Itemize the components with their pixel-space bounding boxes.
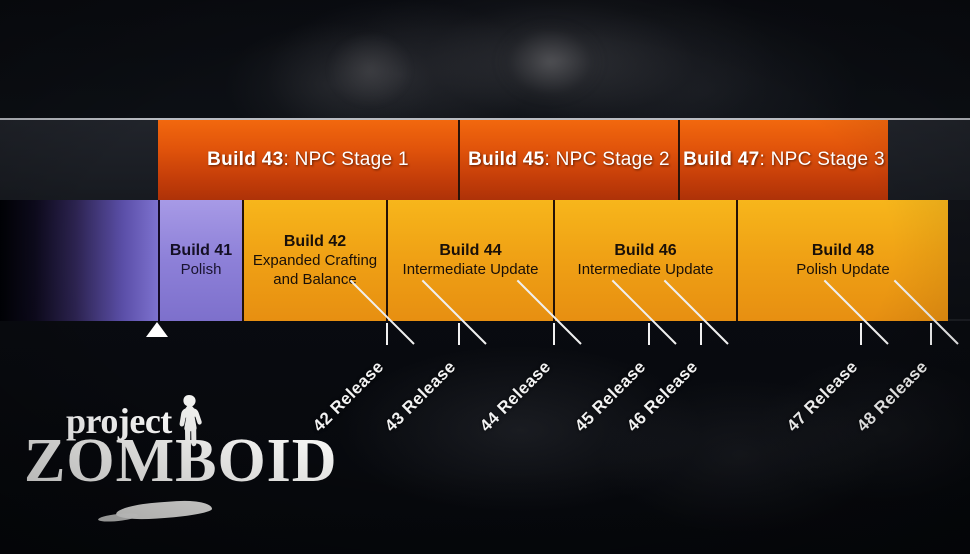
build-title: Build 44	[439, 241, 501, 261]
stage-separator: :	[759, 149, 770, 170]
build-subtitle: Intermediate Update	[578, 261, 714, 280]
build-subtitle: Polish	[181, 261, 222, 280]
stage-build-number: Build 45	[468, 149, 544, 170]
stage-build-number: Build 47	[683, 149, 759, 170]
build-title: Build 42	[284, 232, 346, 252]
stage-label: Build 47: NPC Stage 3	[683, 149, 885, 171]
release-callout-release-48: 48 Release	[930, 323, 932, 345]
release-callout-release-44: 44 Release	[553, 323, 555, 345]
past-progress-fade	[0, 200, 158, 321]
stage-bar-stage-47: Build 47: NPC Stage 3	[678, 120, 888, 200]
stage-bar-stage-43: Build 43: NPC Stage 1	[158, 120, 458, 200]
stage-label: Build 43: NPC Stage 1	[207, 149, 409, 171]
stage-bar-stage-45: Build 45: NPC Stage 2	[458, 120, 678, 200]
build-title: Build 41	[170, 241, 232, 261]
release-callout-release-45: 45 Release	[648, 323, 650, 345]
stage-label: Build 45: NPC Stage 2	[468, 149, 670, 171]
logo-blood-smear-secondary	[98, 512, 139, 523]
background-zombie-figure	[250, 0, 710, 120]
release-callout-release-43: 43 Release	[458, 323, 460, 345]
timeline-chart: Build 43: NPC Stage 1Build 45: NPC Stage…	[0, 118, 970, 321]
roadmap-image: Build 43: NPC Stage 1Build 45: NPC Stage…	[0, 0, 970, 554]
project-zomboid-logo: project ZOMBOID	[24, 398, 264, 528]
build-title: Build 46	[614, 241, 676, 261]
build-title: Build 48	[812, 241, 874, 261]
build-subtitle: Polish Update	[796, 261, 889, 280]
build-block-build-42: Build 42Expanded Crafting and Balance	[242, 200, 386, 321]
build-block-build-46: Build 46Intermediate Update	[553, 200, 736, 321]
logo-word-zomboid: ZOMBOID	[24, 430, 338, 492]
stage-name: NPC Stage 1	[295, 149, 409, 170]
release-callout-release-46: 46 Release	[700, 323, 702, 345]
stage-name: NPC Stage 2	[556, 149, 670, 170]
build-block-build-41: Build 41Polish	[158, 200, 242, 321]
build-subtitle: Expanded Crafting and Balance	[248, 252, 382, 290]
stage-separator: :	[283, 149, 294, 170]
stage-build-number: Build 43	[207, 149, 283, 170]
build-subtitle: Intermediate Update	[403, 261, 539, 280]
current-position-marker	[146, 322, 168, 337]
stage-name: NPC Stage 3	[771, 149, 885, 170]
release-callout-release-47: 47 Release	[860, 323, 862, 345]
stage-separator: :	[544, 149, 555, 170]
build-block-build-44: Build 44Intermediate Update	[386, 200, 553, 321]
release-callout-release-42: 42 Release	[386, 323, 388, 345]
